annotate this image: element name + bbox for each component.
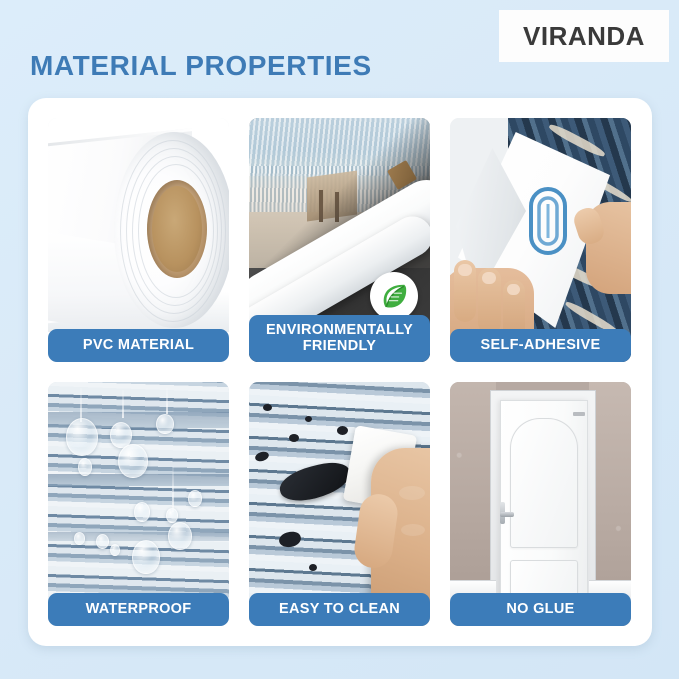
easy-to-clean-image [249,382,430,626]
feature-grid: PVC MATERIAL [48,118,632,626]
feature-card-environmentally-friendly[interactable]: ENVIRONMENTALLY FRIENDLY [249,118,430,362]
feature-label-no-glue: NO GLUE [450,593,631,626]
feature-card-waterproof[interactable]: WATERPROOF [48,382,229,626]
self-adhesive-image [450,118,631,362]
page-title: MATERIAL PROPERTIES [30,50,372,82]
infographic-root: VIRANDA MATERIAL PROPERTIES [0,0,679,679]
feature-label-easy-to-clean: EASY TO CLEAN [249,593,430,626]
feature-card-pvc-material[interactable]: PVC MATERIAL [48,118,229,362]
feature-card-no-glue[interactable]: NO GLUE [450,382,631,626]
no-glue-door-image [450,382,631,626]
feature-card-self-adhesive[interactable]: SELF-ADHESIVE [450,118,631,362]
feature-label-pvc-material: PVC MATERIAL [48,329,229,362]
paperclip-icon [526,184,570,258]
feature-label-self-adhesive: SELF-ADHESIVE [450,329,631,362]
leaf-icon [379,281,409,311]
paperclip-badge [526,184,570,263]
brand-logo: VIRANDA [499,10,669,62]
brand-logo-text: VIRANDA [523,21,645,52]
feature-label-waterproof: WATERPROOF [48,593,229,626]
feature-card-easy-to-clean[interactable]: EASY TO CLEAN [249,382,430,626]
pvc-roll-image [48,118,229,362]
leaf-badge [370,272,418,320]
feature-label-environmentally-friendly: ENVIRONMENTALLY FRIENDLY [249,315,430,362]
waterproof-image [48,382,229,626]
